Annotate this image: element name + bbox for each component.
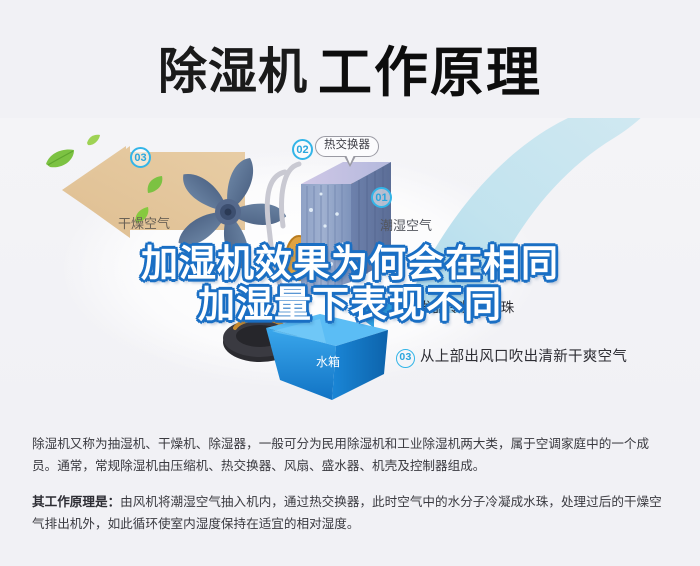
leaf-icon xyxy=(44,148,78,170)
caption-02: 发器冷凝成水珠 xyxy=(418,296,515,316)
caption-03-text: 从上部出风口吹出清新干爽空气 xyxy=(420,349,627,365)
title-part-two: 工作原理 xyxy=(318,43,542,103)
badge-02: 02 xyxy=(292,139,313,160)
caption-03-badge: 03 xyxy=(396,349,415,368)
body-paragraph-2: 其工作原理是：由风机将潮湿空气抽入机内，通过热交换器，此时空气中的水分子冷凝成水… xyxy=(32,491,670,535)
body-paragraph-1: 除湿机又称为抽湿机、干燥机、除湿器，一般可分为民用除湿机和工业除湿机两大类，属于… xyxy=(32,433,670,477)
caption-02-text: 发器冷凝成水珠 xyxy=(418,300,515,315)
title-part-one: 除湿机 xyxy=(158,45,308,99)
leaf-icon xyxy=(146,174,164,194)
body-paragraph-2-rest: 由风机将潮湿空气抽入机内，通过热交换器，此时空气中的水分子冷凝成水珠，处理过后的… xyxy=(32,495,662,531)
dry-air-label: 干燥空气 xyxy=(118,213,170,232)
leaf-icon xyxy=(86,134,101,146)
heat-exchanger-callout: 热交换器 xyxy=(315,136,379,157)
dehumidifier-diagram: 01 02 03 热交换器 潮湿空气 干燥空气 水箱 发器冷凝成水珠 03从上部… xyxy=(0,118,700,410)
page-root: 除湿机工作原理 xyxy=(0,0,700,566)
page-title: 除湿机工作原理 xyxy=(0,28,700,107)
moist-air-label: 潮湿空气 xyxy=(380,215,432,234)
badge-01: 01 xyxy=(371,187,392,208)
body-paragraph-2-lead: 其工作原理是： xyxy=(32,495,120,509)
badge-03: 03 xyxy=(130,147,151,168)
water-tank-label: 水箱 xyxy=(316,353,340,370)
caption-03: 03从上部出风口吹出清新干爽空气 xyxy=(396,345,627,368)
